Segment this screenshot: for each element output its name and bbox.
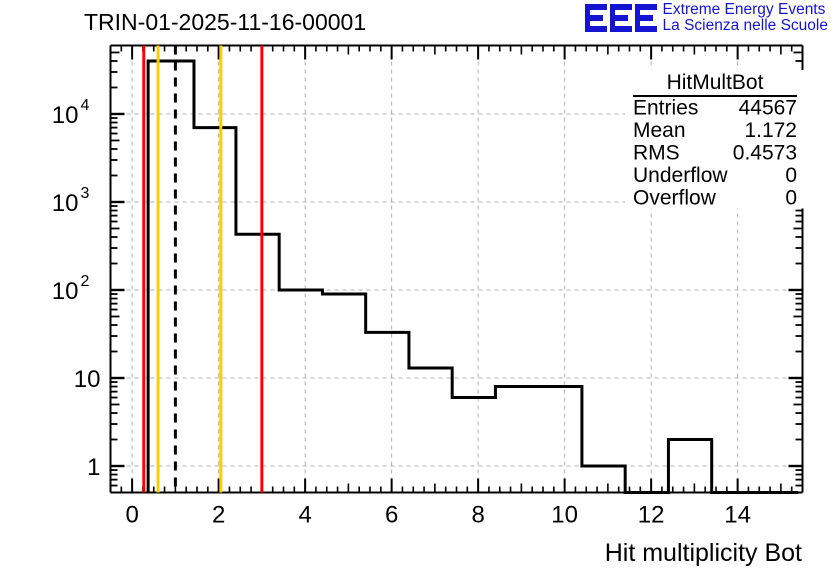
- stats-row-value: 0: [785, 187, 797, 210]
- svg-text:1: 1: [87, 454, 100, 481]
- y-tick-label: 104: [52, 97, 90, 129]
- stats-row-label: Overflow: [633, 187, 717, 210]
- stats-row-value: 0.4573: [733, 142, 797, 165]
- stats-row-label: RMS: [633, 142, 680, 165]
- vertical-marker-lines: [144, 46, 262, 493]
- x-tick-label: 6: [385, 502, 398, 529]
- plot-title-group: TRIN-01-2025-11-16-00001: [84, 9, 366, 35]
- stats-row-label: Mean: [633, 119, 686, 142]
- svg-text:10: 10: [74, 366, 101, 393]
- y-tick-label: 1: [87, 454, 100, 481]
- x-axis-tick-labels: 02468101214: [125, 502, 751, 529]
- x-tick-label: 2: [212, 502, 225, 529]
- x-tick-label: 4: [298, 502, 311, 529]
- x-axis-title: Hit multiplicity Bot: [605, 539, 802, 567]
- stats-row-label: Underflow: [633, 164, 728, 187]
- y-tick-label: 10: [74, 366, 101, 393]
- page-title: TRIN-01-2025-11-16-00001: [84, 9, 366, 35]
- x-axis-title-group: Hit multiplicity Bot: [605, 539, 802, 567]
- stats-row-value: 44567: [739, 97, 797, 120]
- svg-text:10: 10: [52, 190, 79, 217]
- x-tick-label: 14: [724, 502, 751, 529]
- svg-text:4: 4: [81, 97, 90, 114]
- stats-row-value: 0: [785, 164, 797, 187]
- x-tick-label: 0: [125, 502, 138, 529]
- svg-text:3: 3: [81, 185, 90, 202]
- y-axis-tick-labels: 110102103104: [52, 97, 101, 481]
- stats-row-label: Entries: [633, 97, 698, 120]
- stats-box-title: HitMultBot: [667, 71, 764, 94]
- x-tick-label: 8: [471, 502, 484, 529]
- x-tick-label: 10: [551, 502, 578, 529]
- svg-text:2: 2: [81, 273, 90, 290]
- histogram-canvas[interactable]: TRIN-01-2025-11-16-00001 02468101214 110…: [0, 0, 836, 572]
- stats-row-value: 1.172: [744, 119, 797, 142]
- x-tick-label: 12: [638, 502, 665, 529]
- y-tick-label: 103: [52, 185, 90, 217]
- statistics-box[interactable]: HitMultBotEntries44567Mean1.172RMS0.4573…: [625, 70, 805, 210]
- svg-text:10: 10: [52, 278, 79, 305]
- root-canvas: Extreme Energy Events La Scienza nelle S…: [0, 0, 836, 572]
- y-tick-label: 102: [52, 273, 90, 305]
- svg-text:10: 10: [52, 102, 79, 129]
